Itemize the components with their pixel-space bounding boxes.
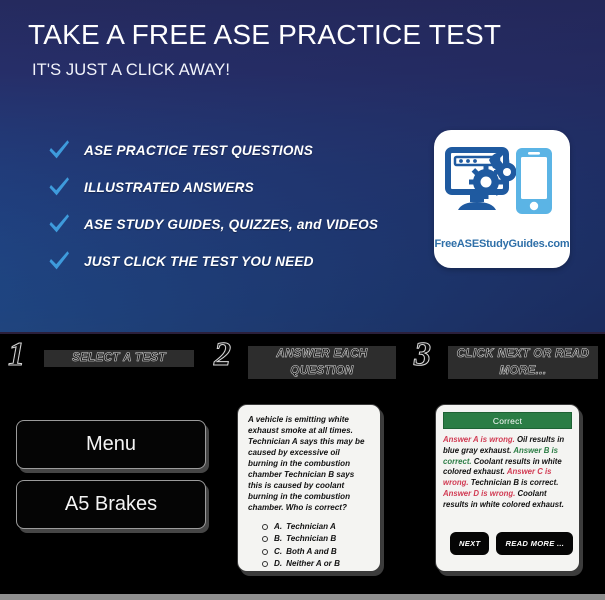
- result-card: Correct Answer A is wrong. Oil results i…: [435, 404, 580, 572]
- explanation-lead: Answer D is wrong.: [443, 489, 515, 498]
- page-subtitle: IT'S JUST A CLICK AWAY!: [32, 61, 230, 80]
- step-2-header: 2 ANSWER EACH QUESTION: [208, 336, 404, 388]
- result-actions: NEXT READ MORE ...: [450, 532, 573, 555]
- question-card: A vehicle is emitting white exhaust smok…: [237, 404, 381, 572]
- answer-option-letter: B.: [274, 533, 282, 545]
- answer-option-label: Technician B: [286, 533, 336, 545]
- a5-brakes-button[interactable]: A5 Brakes: [16, 480, 206, 529]
- step-title: ANSWER EACH QUESTION: [248, 346, 396, 379]
- list-item: ASE STUDY GUIDES, QUIZZES, and VIDEOS: [48, 206, 428, 242]
- promo-page: TAKE A FREE ASE PRACTICE TEST IT'S JUST …: [0, 0, 605, 600]
- list-item-label: JUST CLICK THE TEST YOU NEED: [84, 254, 314, 269]
- step-2-column: 2 ANSWER EACH QUESTION A vehicle is emit…: [208, 336, 404, 594]
- read-more-button[interactable]: READ MORE ...: [496, 532, 573, 555]
- feature-list: ASE PRACTICE TEST QUESTIONS ILLUSTRATED …: [48, 132, 428, 280]
- answer-option-letter: A.: [274, 521, 282, 533]
- step-3-header: 3 CLICK NEXT OR READ MORE...: [404, 336, 605, 388]
- step-number: 1: [8, 338, 25, 372]
- radio-icon[interactable]: [262, 536, 268, 542]
- page-title: TAKE A FREE ASE PRACTICE TEST: [28, 19, 501, 51]
- check-icon: [48, 249, 70, 273]
- check-icon: [48, 138, 70, 162]
- radio-icon[interactable]: [262, 561, 268, 567]
- step-number: 3: [414, 338, 431, 372]
- list-item: ASE PRACTICE TEST QUESTIONS: [48, 132, 428, 168]
- answer-option[interactable]: A. Technician A: [262, 521, 370, 533]
- explanation-lead: Answer A is wrong.: [443, 435, 515, 444]
- answer-option-letter: C.: [274, 546, 282, 558]
- radio-icon[interactable]: [262, 549, 268, 555]
- bottom-bar: [0, 594, 605, 600]
- menu-button-label: Menu: [86, 433, 136, 456]
- read-more-button-label: READ MORE ...: [505, 539, 564, 548]
- answer-option[interactable]: B. Technician B: [262, 533, 370, 545]
- next-button[interactable]: NEXT: [450, 532, 489, 555]
- answer-option-label: Neither A or B: [286, 558, 340, 570]
- check-icon: [48, 175, 70, 199]
- step-title: SELECT A TEST: [44, 350, 194, 367]
- question-text: A vehicle is emitting white exhaust smok…: [248, 414, 370, 513]
- answer-option-label: Both A and B: [286, 546, 337, 558]
- steps-strip: 1 SELECT A TEST Menu A5 Brakes 2 ANSWER …: [0, 336, 605, 594]
- check-icon: [48, 212, 70, 236]
- list-item-label: ILLUSTRATED ANSWERS: [84, 180, 254, 195]
- step-1-column: 1 SELECT A TEST Menu A5 Brakes: [0, 336, 208, 594]
- answer-options-list: A. Technician A B. Technician B C. Both …: [248, 521, 370, 570]
- next-button-label: NEXT: [459, 539, 480, 548]
- hero-banner: TAKE A FREE ASE PRACTICE TEST IT'S JUST …: [0, 0, 605, 334]
- monitor-phone-gears-icon: [444, 144, 560, 230]
- answer-option[interactable]: D. Neither A or B: [262, 558, 370, 570]
- answer-option-label: Technician A: [286, 521, 336, 533]
- answer-option[interactable]: C. Both A and B: [262, 546, 370, 558]
- status-badge: Correct: [443, 412, 572, 429]
- menu-button[interactable]: Menu: [16, 420, 206, 469]
- list-item-label: ASE PRACTICE TEST QUESTIONS: [84, 143, 313, 158]
- step-3-column: 3 CLICK NEXT OR READ MORE... Correct Ans…: [404, 336, 605, 594]
- list-item: JUST CLICK THE TEST YOU NEED: [48, 243, 428, 279]
- logo-url-text: FreeASEStudyGuides.com: [434, 238, 570, 250]
- brand-logo-card[interactable]: FreeASEStudyGuides.com: [434, 130, 570, 268]
- step-title: CLICK NEXT OR READ MORE...: [448, 346, 598, 379]
- answer-option-letter: D.: [274, 558, 282, 570]
- list-item: ILLUSTRATED ANSWERS: [48, 169, 428, 205]
- explanation-body: Technician B is correct.: [471, 478, 559, 487]
- list-item-label: ASE STUDY GUIDES, QUIZZES, and VIDEOS: [84, 217, 378, 232]
- a5-brakes-button-label: A5 Brakes: [65, 493, 157, 516]
- radio-icon[interactable]: [262, 524, 268, 530]
- explanation-list: Answer A is wrong. Oil results in blue g…: [443, 435, 572, 510]
- step-number: 2: [214, 338, 231, 372]
- step-1-header: 1 SELECT A TEST: [0, 336, 208, 388]
